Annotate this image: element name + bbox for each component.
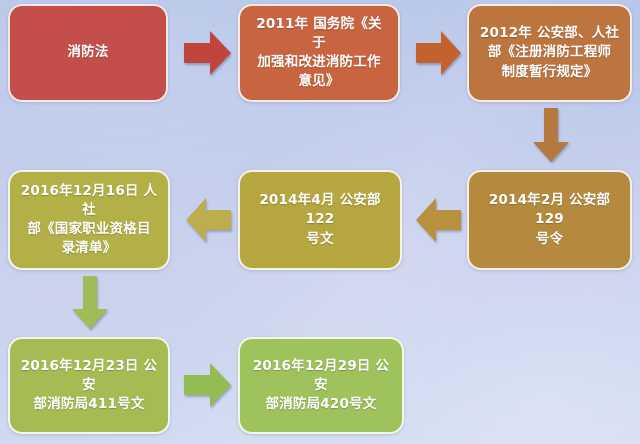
node-2016-12-16-mohrss-catalog[interactable]: 2016年12月16日 人社 部《国家职业资格目 录清单》 bbox=[8, 170, 170, 270]
arrow-2014-04-to-2016-12-16-icon bbox=[186, 194, 232, 246]
node-fire-protection-law[interactable]: 消防法 bbox=[8, 4, 168, 102]
node-2016-12-29-fire-bureau-420[interactable]: 2016年12月29日 公安 部消防局420号文 bbox=[238, 337, 404, 434]
arrow-2012-to-2014-02-icon bbox=[531, 108, 571, 164]
node-label: 2016年12月23日 公安 部消防局411号文 bbox=[20, 357, 158, 414]
node-label: 2016年12月16日 人社 部《国家职业资格目 录清单》 bbox=[20, 182, 158, 259]
node-2012-mps-mohrss[interactable]: 2012年 公安部、人社 部《注册消防工程师 制度暂行规定》 bbox=[467, 4, 632, 102]
node-label: 2012年 公安部、人社 部《注册消防工程师 制度暂行规定》 bbox=[479, 24, 620, 81]
node-label: 2014年4月 公安部122 号文 bbox=[250, 191, 390, 248]
node-2014-04-mps-doc-122[interactable]: 2014年4月 公安部122 号文 bbox=[238, 170, 402, 270]
node-2014-02-mps-order-129[interactable]: 2014年2月 公安部129 号令 bbox=[467, 170, 632, 270]
node-label: 2011年 国务院《关于 加强和改进消防工作 意见》 bbox=[250, 15, 388, 92]
arrow-2011-to-2012-icon bbox=[416, 28, 462, 78]
node-label: 消防法 bbox=[20, 43, 156, 62]
arrow-2014-02-to-2014-04-icon bbox=[416, 194, 462, 246]
arrow-411-to-420-icon bbox=[184, 360, 232, 410]
node-2016-12-23-fire-bureau-411[interactable]: 2016年12月23日 公安 部消防局411号文 bbox=[8, 337, 170, 434]
node-label: 2014年2月 公安部129 号令 bbox=[479, 191, 620, 248]
node-2011-state-council[interactable]: 2011年 国务院《关于 加强和改进消防工作 意见》 bbox=[238, 4, 400, 102]
node-label: 2016年12月29日 公安 部消防局420号文 bbox=[250, 357, 392, 414]
arrow-law-to-2011-icon bbox=[184, 28, 232, 78]
arrow-2016-12-16-to-411-icon bbox=[70, 276, 110, 330]
flowchart-canvas: 消防法 2011年 国务院《关于 加强和改进消防工作 意见》 2012年 公安部… bbox=[0, 0, 640, 444]
